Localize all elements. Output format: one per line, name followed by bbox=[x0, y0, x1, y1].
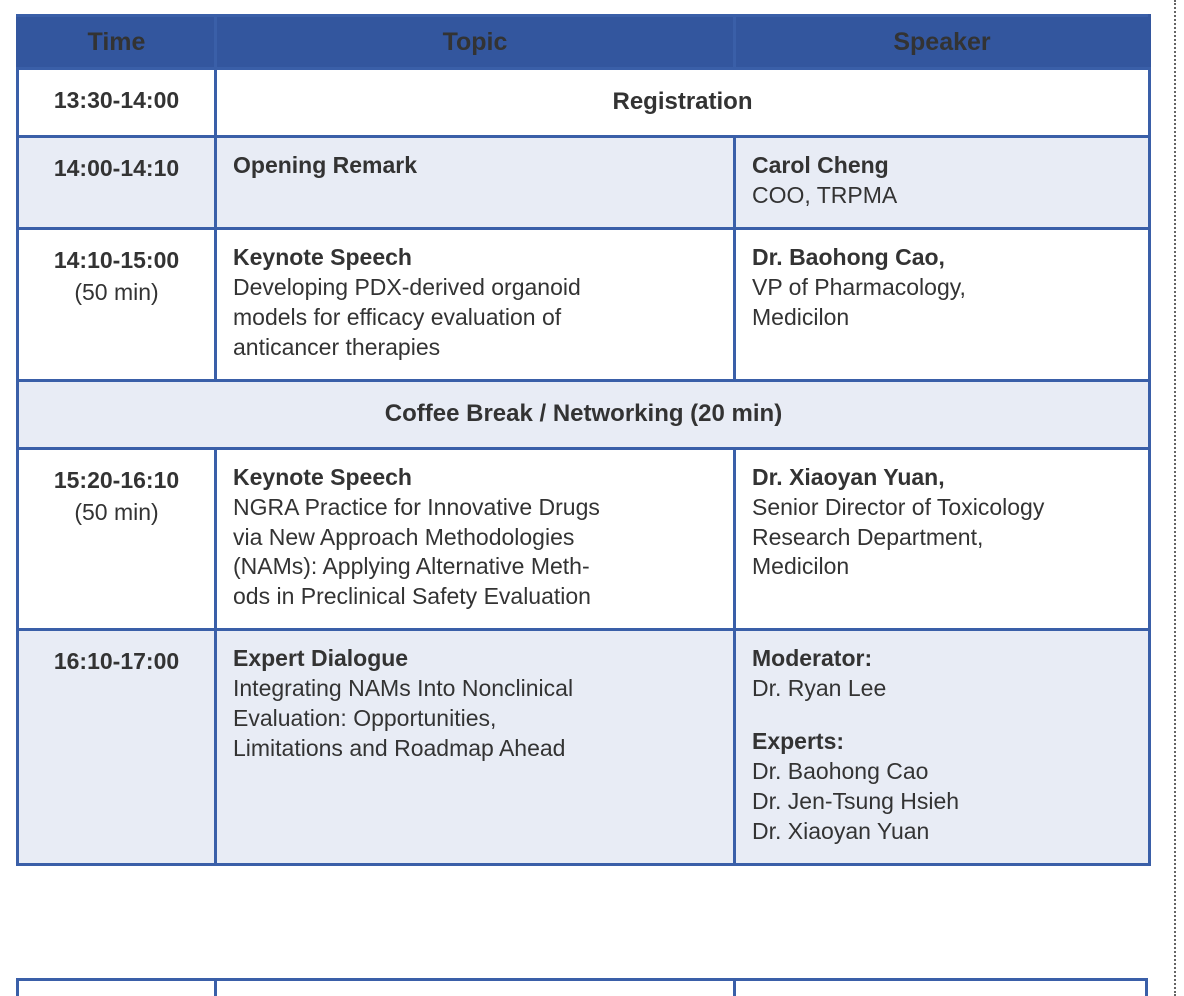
topic-line: anticancer therapies bbox=[233, 333, 717, 363]
cell-time: 13:30-14:00 bbox=[18, 69, 216, 137]
table-row: 14:00-14:10 Opening Remark Carol Cheng C… bbox=[18, 137, 1150, 229]
cell-topic: Keynote Speech NGRA Practice for Innovat… bbox=[216, 448, 735, 629]
next-row-partial bbox=[16, 978, 1148, 996]
expert-name: Dr. Jen-Tsung Hsieh bbox=[752, 787, 1132, 817]
table-row: 15:20-16:10 (50 min) Keynote Speech NGRA… bbox=[18, 448, 1150, 629]
cell-merged-coffee-break: Coffee Break / Networking (20 min) bbox=[18, 380, 1150, 448]
speaker-name: Dr. Baohong Cao, bbox=[752, 243, 1132, 273]
next-row-outline bbox=[16, 978, 1148, 996]
merged-label: Registration bbox=[612, 88, 752, 115]
moderator-name: Dr. Ryan Lee bbox=[752, 674, 1132, 704]
speaker-name: Carol Cheng bbox=[752, 151, 1132, 181]
topic-line: Limitations and Roadmap Ahead bbox=[233, 734, 717, 764]
agenda-table-wrapper: Time Topic Speaker 13:30-14:00 Registrat… bbox=[16, 14, 1148, 866]
time-value: 16:10-17:00 bbox=[54, 648, 179, 674]
time-value: 15:20-16:10 bbox=[54, 467, 179, 493]
time-value: 13:30-14:00 bbox=[54, 87, 179, 113]
topic-line: via New Approach Methodologies bbox=[233, 523, 717, 553]
table-row: 16:10-17:00 Expert Dialogue Integrating … bbox=[18, 630, 1150, 864]
expert-name: Dr. Baohong Cao bbox=[752, 757, 1132, 787]
topic-title: Keynote Speech bbox=[233, 463, 717, 493]
next-row-divider-1 bbox=[214, 981, 217, 996]
table-row: 13:30-14:00 Registration bbox=[18, 69, 1150, 137]
cell-merged-registration: Registration bbox=[216, 69, 1150, 137]
next-row-divider-2 bbox=[733, 981, 736, 996]
cell-topic: Opening Remark bbox=[216, 137, 735, 229]
topic-line: NGRA Practice for Innovative Drugs bbox=[233, 493, 717, 523]
speaker-affiliation: Medicilon bbox=[752, 303, 1132, 333]
time-duration: (50 min) bbox=[35, 278, 198, 308]
time-value: 14:00-14:10 bbox=[54, 155, 179, 181]
merged-label: Coffee Break / Networking (20 min) bbox=[385, 400, 782, 427]
cell-speaker: Moderator: Dr. Ryan Lee Experts: Dr. Bao… bbox=[735, 630, 1150, 864]
table-row: Coffee Break / Networking (20 min) bbox=[18, 380, 1150, 448]
cell-time: 14:10-15:00 (50 min) bbox=[18, 228, 216, 380]
header-row: Time Topic Speaker bbox=[18, 16, 1150, 69]
speaker-affiliation: VP of Pharmacology, bbox=[752, 273, 1132, 303]
cell-time: 16:10-17:00 bbox=[18, 630, 216, 864]
speaker-affiliation: COO, TRPMA bbox=[752, 181, 1132, 211]
speaker-affiliation: Research Department, bbox=[752, 523, 1132, 553]
topic-title: Expert Dialogue bbox=[233, 644, 717, 674]
expert-name: Dr. Xiaoyan Yuan bbox=[752, 817, 1132, 847]
topic-title: Keynote Speech bbox=[233, 243, 717, 273]
column-header-time: Time bbox=[18, 16, 216, 69]
agenda-table: Time Topic Speaker 13:30-14:00 Registrat… bbox=[16, 14, 1151, 866]
table-header: Time Topic Speaker bbox=[18, 16, 1150, 69]
cell-speaker: Carol Cheng COO, TRPMA bbox=[735, 137, 1150, 229]
topic-line: (NAMs): Applying Alternative Meth- bbox=[233, 552, 717, 582]
topic-line: models for efficacy evaluation of bbox=[233, 303, 717, 333]
topic-line: ods in Preclinical Safety Evaluation bbox=[233, 582, 717, 612]
column-header-speaker: Speaker bbox=[735, 16, 1150, 69]
cell-speaker: Dr. Xiaoyan Yuan, Senior Director of Tox… bbox=[735, 448, 1150, 629]
topic-title: Opening Remark bbox=[233, 151, 717, 181]
cell-topic: Keynote Speech Developing PDX-derived or… bbox=[216, 228, 735, 380]
speaker-affiliation: Senior Director of Toxicology bbox=[752, 493, 1132, 523]
time-duration: (50 min) bbox=[35, 498, 198, 528]
time-value: 14:10-15:00 bbox=[54, 247, 179, 273]
cell-topic: Expert Dialogue Integrating NAMs Into No… bbox=[216, 630, 735, 864]
speaker-name: Dr. Xiaoyan Yuan, bbox=[752, 463, 1132, 493]
cell-time: 15:20-16:10 (50 min) bbox=[18, 448, 216, 629]
experts-label: Experts: bbox=[752, 727, 1132, 757]
table-row: 14:10-15:00 (50 min) Keynote Speech Deve… bbox=[18, 228, 1150, 380]
speaker-affiliation: Medicilon bbox=[752, 552, 1132, 582]
topic-line: Evaluation: Opportunities, bbox=[233, 704, 717, 734]
topic-line: Integrating NAMs Into Nonclinical bbox=[233, 674, 717, 704]
cell-time: 14:00-14:10 bbox=[18, 137, 216, 229]
speaker-spacer bbox=[752, 704, 1132, 727]
page-margin-guide bbox=[1174, 0, 1176, 996]
column-header-topic: Topic bbox=[216, 16, 735, 69]
table-body: 13:30-14:00 Registration 14:00-14:10 Ope… bbox=[18, 69, 1150, 865]
topic-line: Developing PDX-derived organoid bbox=[233, 273, 717, 303]
moderator-label: Moderator: bbox=[752, 644, 1132, 674]
cell-speaker: Dr. Baohong Cao, VP of Pharmacology, Med… bbox=[735, 228, 1150, 380]
